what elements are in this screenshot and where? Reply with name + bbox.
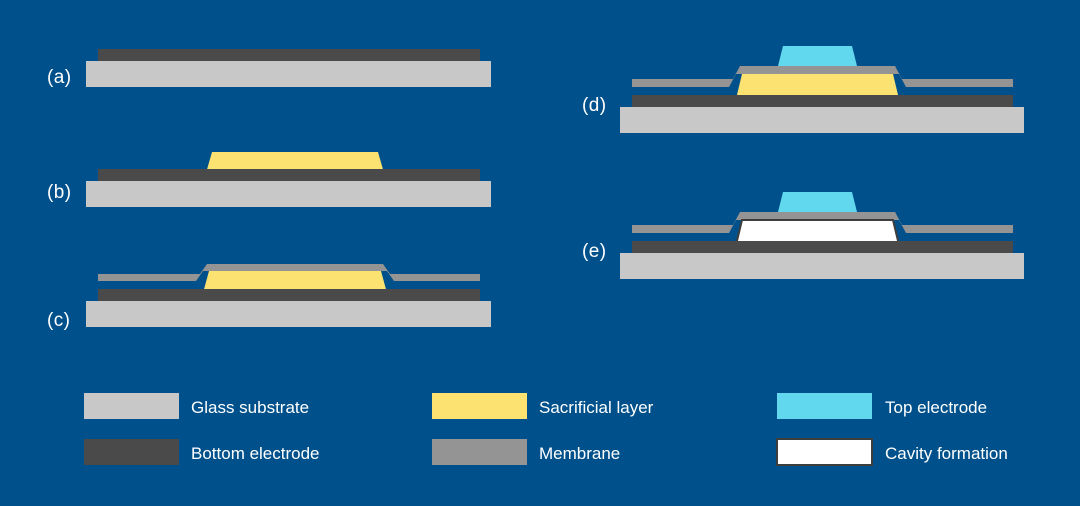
panel-b-label: (b) bbox=[47, 182, 71, 203]
panel-d-label: (d) bbox=[582, 95, 606, 116]
panel-b: (b) bbox=[47, 152, 491, 207]
panel-d: (d) bbox=[582, 46, 1024, 133]
panel-c-glass-substrate bbox=[86, 301, 491, 327]
legend-label-bottom-electrode: Bottom electrode bbox=[191, 444, 320, 463]
legend-item-top-electrode: Top electrode bbox=[777, 393, 987, 419]
legend-swatch-top-electrode bbox=[777, 393, 872, 419]
panel-c: (c) bbox=[47, 264, 491, 331]
panel-c-label: (c) bbox=[47, 310, 70, 331]
panel-a-label: (a) bbox=[47, 67, 71, 88]
legend-swatch-cavity-formation bbox=[777, 439, 872, 465]
panel-e-bottom-electrode bbox=[632, 241, 1013, 253]
legend-label-membrane: Membrane bbox=[539, 444, 620, 463]
panel-d-glass-substrate bbox=[620, 107, 1024, 133]
panel-e-label: (e) bbox=[582, 241, 606, 262]
legend-label-cavity-formation: Cavity formation bbox=[885, 444, 1008, 463]
figure-canvas: (a) (b) (c) (d) bbox=[0, 0, 1080, 506]
legend-label-sacrificial-layer: Sacrificial layer bbox=[539, 398, 654, 417]
legend-swatch-glass-substrate bbox=[84, 393, 179, 419]
legend-swatch-membrane bbox=[432, 439, 527, 465]
legend-item-membrane: Membrane bbox=[432, 439, 620, 465]
panel-e: (e) bbox=[582, 192, 1024, 279]
panel-a: (a) bbox=[47, 49, 491, 88]
legend-item-glass-substrate: Glass substrate bbox=[84, 393, 309, 419]
panel-e-top-electrode bbox=[778, 192, 857, 212]
legend-label-top-electrode: Top electrode bbox=[885, 398, 987, 417]
panel-a-bottom-electrode bbox=[98, 49, 480, 61]
legend-swatch-sacrificial-layer bbox=[432, 393, 527, 419]
panel-b-bottom-electrode bbox=[98, 169, 480, 181]
process-flow-diagram: (a) (b) (c) (d) bbox=[0, 0, 1080, 506]
panel-a-glass-substrate bbox=[86, 61, 491, 87]
panel-d-top-electrode bbox=[778, 46, 857, 66]
panel-c-bottom-electrode bbox=[98, 289, 480, 301]
panel-e-glass-substrate bbox=[620, 253, 1024, 279]
legend-item-cavity-formation: Cavity formation bbox=[777, 439, 1008, 465]
legend-item-sacrificial-layer: Sacrificial layer bbox=[432, 393, 654, 419]
panel-b-glass-substrate bbox=[86, 181, 491, 207]
legend-swatch-bottom-electrode bbox=[84, 439, 179, 465]
legend-item-bottom-electrode: Bottom electrode bbox=[84, 439, 320, 465]
legend: Glass substrate Bottom electrode Sacrifi… bbox=[84, 393, 1008, 465]
panel-d-bottom-electrode bbox=[632, 95, 1013, 107]
legend-label-glass-substrate: Glass substrate bbox=[191, 398, 309, 417]
